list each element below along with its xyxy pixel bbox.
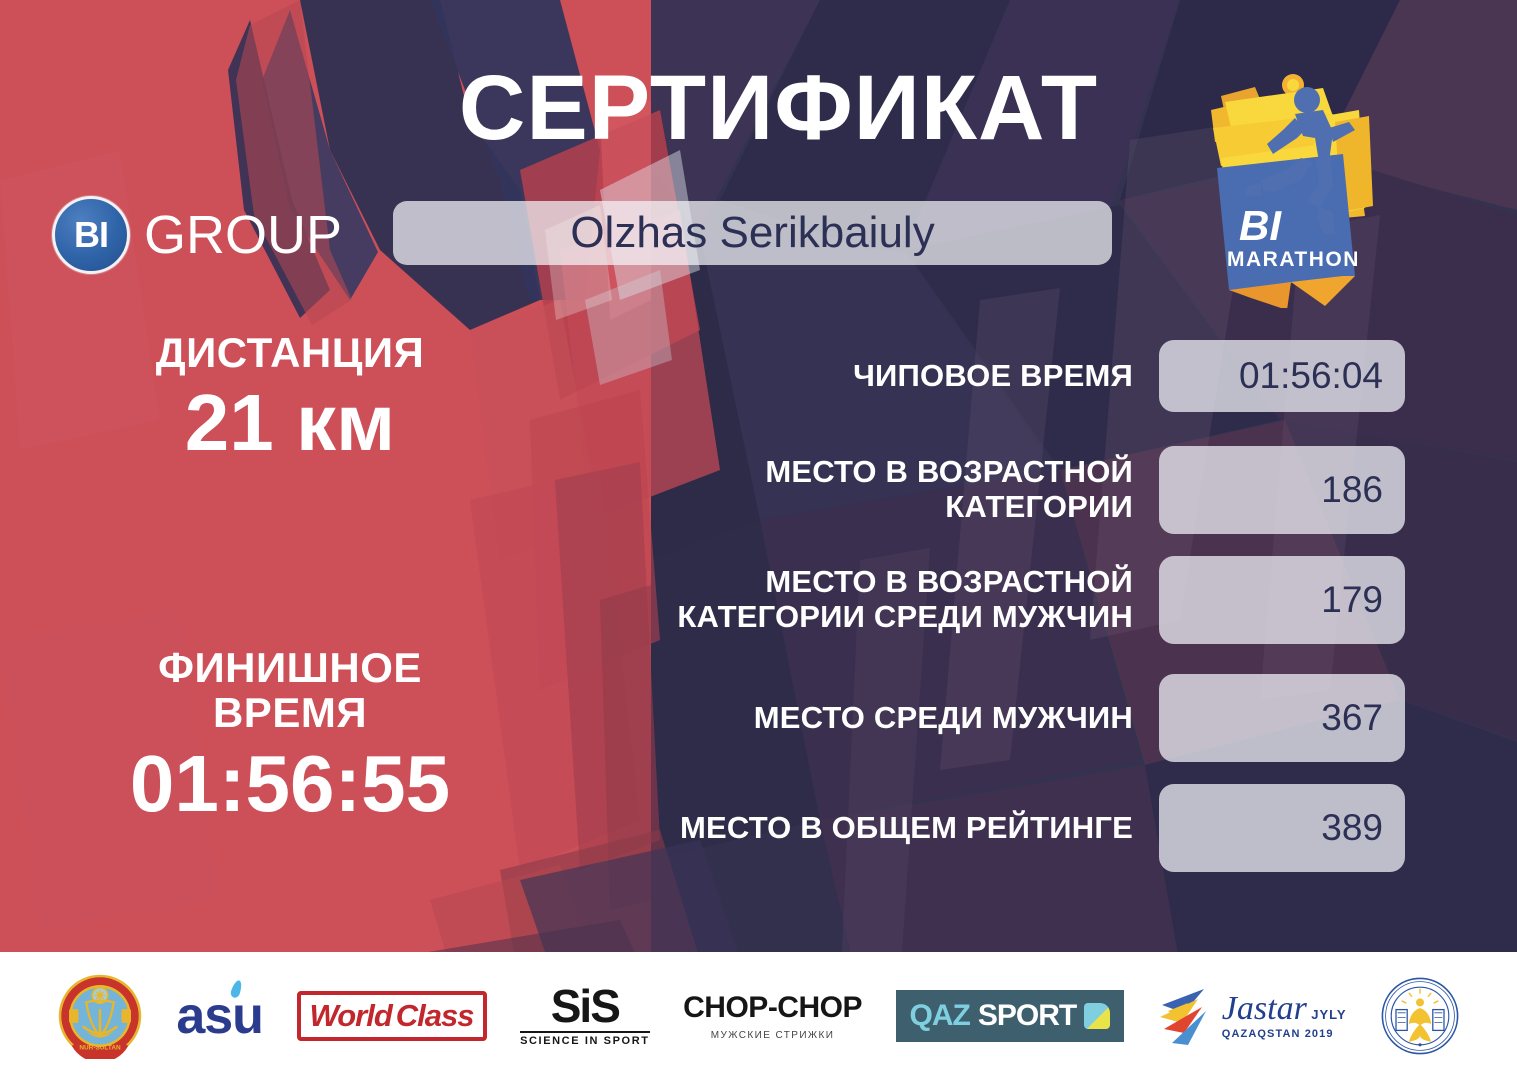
qazsport-word1: QAZ <box>910 999 970 1033</box>
ministry-seal-icon <box>1380 976 1460 1056</box>
bi-group-logo: BI GROUP <box>52 196 342 274</box>
world-class-word1: World <box>310 998 392 1034</box>
sis-label: SiS <box>520 985 650 1029</box>
results-list: ЧИПОВОЕ ВРЕМЯ 01:56:04 МЕСТО В ВОЗРАСТНО… <box>600 340 1405 890</box>
chop-chop-label: CHOP-CHOP <box>683 991 862 1025</box>
marathon-word-text: MARATHON <box>1227 248 1360 271</box>
world-class-word2: Class <box>396 998 474 1034</box>
jastar-name: Jastar <box>1222 990 1307 1027</box>
sponsor-jastar-jyly: Jastar JYLY QAZAQSTAN 2019 <box>1158 981 1347 1051</box>
result-value: 367 <box>1159 674 1405 762</box>
result-value: 389 <box>1159 784 1405 872</box>
sponsor-qazsport: QAZ SPORT <box>896 990 1125 1042</box>
bi-badge-icon: BI <box>52 196 130 274</box>
chop-chop-tagline: МУЖСКИЕ СТРИЖКИ <box>683 1030 862 1041</box>
distance-label: ДИСТАНЦИЯ <box>0 330 580 375</box>
result-row: ЧИПОВОЕ ВРЕМЯ 01:56:04 <box>600 340 1405 412</box>
qazsport-word2: SPORT <box>978 999 1076 1033</box>
jastar-subtitle: QAZAQSTAN 2019 <box>1222 1028 1347 1040</box>
result-label: МЕСТО В ВОЗРАСТНОЙ КАТЕГОРИИ <box>600 455 1133 524</box>
distance-block: ДИСТАНЦИЯ 21 км <box>0 330 580 465</box>
sponsor-science-in-sport: SiS SCIENCE IN SPORT <box>520 985 650 1048</box>
result-row: МЕСТО В ОБЩЕМ РЕЙТИНГЕ 389 <box>600 784 1405 872</box>
sponsor-nur-sultan-emblem: NUR-SULTAN <box>57 973 143 1059</box>
result-label: МЕСТО СРЕДИ МУЖЧИН <box>600 701 1133 736</box>
result-row: МЕСТО СРЕДИ МУЖЧИН 367 <box>600 674 1405 762</box>
sponsor-chop-chop: CHOP-CHOP МУЖСКИЕ СТРИЖКИ <box>683 991 862 1041</box>
jastar-arrow-icon <box>1158 981 1216 1051</box>
finish-time-label-line2: ВРЕМЯ <box>0 690 580 735</box>
certificate-canvas: СЕРТИФИКАТ BI GROUP Olzhas Serikbaiuly <box>0 0 1517 1080</box>
result-label: ЧИПОВОЕ ВРЕМЯ <box>600 359 1133 394</box>
result-label: МЕСТО В ОБЩЕМ РЕЙТИНГЕ <box>600 811 1133 846</box>
nur-sultan-emblem-icon: NUR-SULTAN <box>57 973 143 1059</box>
result-label: МЕСТО В ВОЗРАСТНОЙ КАТЕГОРИИ СРЕДИ МУЖЧИ… <box>600 565 1133 634</box>
result-value: 179 <box>1159 556 1405 644</box>
sponsor-asu: asu <box>176 986 263 1046</box>
finish-time-block: ФИНИШНОЕ ВРЕМЯ 01:56:55 <box>0 645 580 826</box>
distance-value: 21 км <box>0 381 580 465</box>
sponsor-ministry-seal <box>1380 976 1460 1056</box>
sis-tagline: SCIENCE IN SPORT <box>520 1031 650 1047</box>
finish-time-label-line1: ФИНИШНОЕ <box>0 645 580 690</box>
participant-name: Olzhas Serikbaiuly <box>393 201 1112 265</box>
sponsor-world-class: World Class <box>297 991 487 1041</box>
bi-marathon-logo: BI MARATHON <box>1183 58 1398 308</box>
jastar-jyly-word: JYLY <box>1311 1007 1346 1022</box>
result-value: 01:56:04 <box>1159 340 1405 412</box>
qazsport-mark-icon <box>1084 1003 1110 1029</box>
finish-time-value: 01:56:55 <box>0 742 580 826</box>
marathon-bi-text: BI <box>1239 202 1282 249</box>
sponsor-bar: NUR-SULTAN asu World Class SiS SCIENCE I… <box>0 952 1517 1080</box>
asu-label: asu <box>176 987 263 1045</box>
result-value: 186 <box>1159 446 1405 534</box>
nur-sultan-text: NUR-SULTAN <box>79 1045 121 1052</box>
result-row: МЕСТО В ВОЗРАСТНОЙ КАТЕГОРИИ 186 <box>600 446 1405 534</box>
bi-group-label: GROUP <box>144 204 342 266</box>
result-row: МЕСТО В ВОЗРАСТНОЙ КАТЕГОРИИ СРЕДИ МУЖЧИ… <box>600 556 1405 644</box>
